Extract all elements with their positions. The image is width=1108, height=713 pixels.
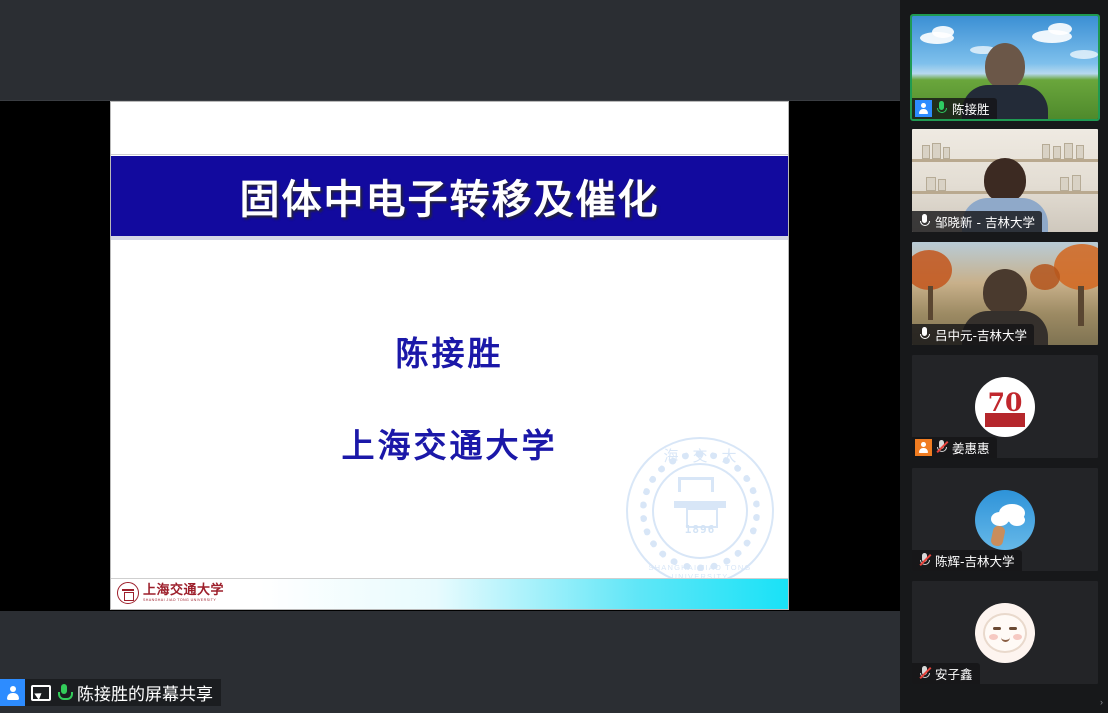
mic-muted-icon [936, 440, 947, 455]
participant-avatar [975, 603, 1035, 663]
shared-slide: 固体中电子转移及催化 陈接胜 上海交通大学 海交大 1896 SHANGHAI … [110, 101, 789, 610]
sjtu-emblem-icon [117, 582, 139, 604]
slide-top-band [111, 102, 788, 155]
avatar-hand-shape [990, 524, 1006, 546]
participant-nameplate: 邹晓新 - 吉林大学 [912, 211, 1042, 232]
slide-title-banner: 固体中电子转移及催化 [111, 156, 788, 236]
sjtu-wordmark-en: SHANGHAI JIAO TONG UNIVERSITY [143, 599, 224, 603]
participant-badge [0, 679, 25, 706]
participant-tile[interactable]: 安子鑫 [910, 579, 1100, 686]
participant-name: 安子鑫 [935, 664, 973, 683]
participant-avatar: 70 [975, 377, 1035, 437]
avatar-banner-shape [985, 413, 1025, 427]
zoom-meeting-window: 固体中电子转移及催化 陈接胜 上海交通大学 海交大 1896 SHANGHAI … [0, 0, 1108, 713]
participant-filmstrip[interactable]: 陈接胜 [900, 0, 1108, 713]
slide-title-underline [111, 236, 788, 240]
person-icon [6, 686, 19, 700]
sjtu-seal-watermark-icon: 海交大 1896 SHANGHAI JIAO TONG UNIVERSITY [626, 437, 774, 585]
participant-name: 陈接胜 [952, 99, 990, 118]
host-badge-icon [915, 439, 932, 456]
mic-muted-icon [919, 553, 930, 568]
participant-nameplate: 吕中元-吉林大学 [912, 324, 1034, 345]
meeting-top-bar [0, 0, 900, 101]
participant-nameplate: 姜惠惠 [912, 437, 997, 458]
host-badge-icon [915, 100, 932, 117]
avatar-face-shape [983, 613, 1027, 653]
participant-tile[interactable]: 邹晓新 - 吉林大学 [910, 127, 1100, 234]
participant-avatar [975, 490, 1035, 550]
sjtu-wordmark-cn: 上海交通大学 [143, 584, 224, 597]
participant-tile[interactable]: 陈辉-吉林大学 [910, 466, 1100, 573]
mic-on-icon [919, 214, 930, 229]
participant-nameplate: 陈辉-吉林大学 [912, 550, 1022, 571]
filmstrip-scroll-indicator[interactable]: › [1100, 697, 1106, 707]
mic-on-icon [936, 101, 947, 116]
mic-on-icon [919, 327, 930, 342]
participant-nameplate: 陈接胜 [912, 98, 997, 119]
participant-name: 陈辉-吉林大学 [935, 551, 1015, 570]
participant-nameplate: 安子鑫 [912, 663, 980, 684]
screen-share-icon [31, 685, 51, 701]
seal-anvil-icon [670, 485, 730, 525]
participant-name: 姜惠惠 [952, 438, 990, 457]
slide-presenter-name: 陈接胜 [111, 327, 788, 375]
screen-share-label: 陈接胜的屏幕共享 [77, 680, 213, 705]
seal-year: 1896 [626, 523, 774, 536]
participant-tile[interactable]: 陈接胜 [910, 14, 1100, 121]
seal-chinese-text: 海交大 [626, 445, 774, 466]
participant-tile[interactable]: 70 姜惠惠 [910, 353, 1100, 460]
sjtu-footer-logo: 上海交通大学 SHANGHAI JIAO TONG UNIVERSITY [117, 582, 224, 604]
participant-tile[interactable]: 吕中元-吉林大学 [910, 240, 1100, 347]
participant-name: 吕中元-吉林大学 [935, 325, 1027, 344]
slide-footer-bar: 上海交通大学 SHANGHAI JIAO TONG UNIVERSITY [111, 578, 788, 609]
avatar-70-text: 70 [988, 390, 1023, 415]
slide-title: 固体中电子转移及催化 [240, 167, 660, 225]
mic-on-icon [57, 684, 70, 701]
mic-muted-icon [919, 666, 930, 681]
screen-share-status-bar: 陈接胜的屏幕共享 [0, 679, 221, 706]
participant-name: 邹晓新 - 吉林大学 [935, 212, 1035, 231]
